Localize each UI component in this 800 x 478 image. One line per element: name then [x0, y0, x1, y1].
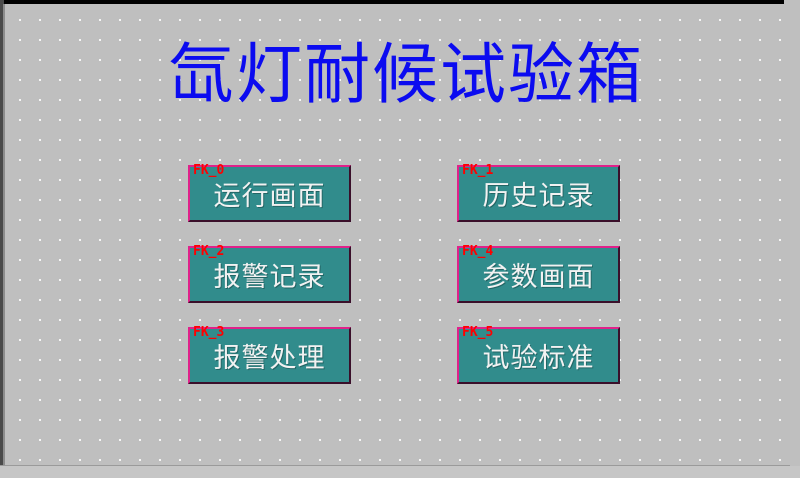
button-tag-fk3: FK_3: [193, 326, 224, 339]
button-tag-fk2: FK_2: [193, 245, 224, 258]
button-history-record[interactable]: FK_1 历史记录: [457, 165, 620, 222]
button-alarm-record[interactable]: FK_2 报警记录: [188, 246, 351, 303]
button-tag-fk4: FK_4: [462, 245, 493, 258]
design-canvas[interactable]: 氙灯耐候试验箱 FK_0 运行画面 FK_1 历史记录 FK_2 报警记录 FK…: [5, 4, 784, 465]
button-alarm-handling[interactable]: FK_3 报警处理: [188, 327, 351, 384]
button-test-standard[interactable]: FK_5 试验标准: [457, 327, 620, 384]
button-tag-fk0: FK_0: [193, 164, 224, 177]
button-parameter-screen[interactable]: FK_4 参数画面: [457, 246, 620, 303]
button-tag-fk1: FK_1: [462, 164, 493, 177]
hmi-editor-window: 氙灯耐候试验箱 FK_0 运行画面 FK_1 历史记录 FK_2 报警记录 FK…: [0, 0, 800, 478]
button-tag-fk5: FK_5: [462, 326, 493, 339]
page-title: 氙灯耐候试验箱: [168, 37, 688, 113]
window-margin-right: [784, 0, 800, 478]
window-margin-bottom: [0, 466, 800, 478]
button-run-screen[interactable]: FK_0 运行画面: [188, 165, 351, 222]
